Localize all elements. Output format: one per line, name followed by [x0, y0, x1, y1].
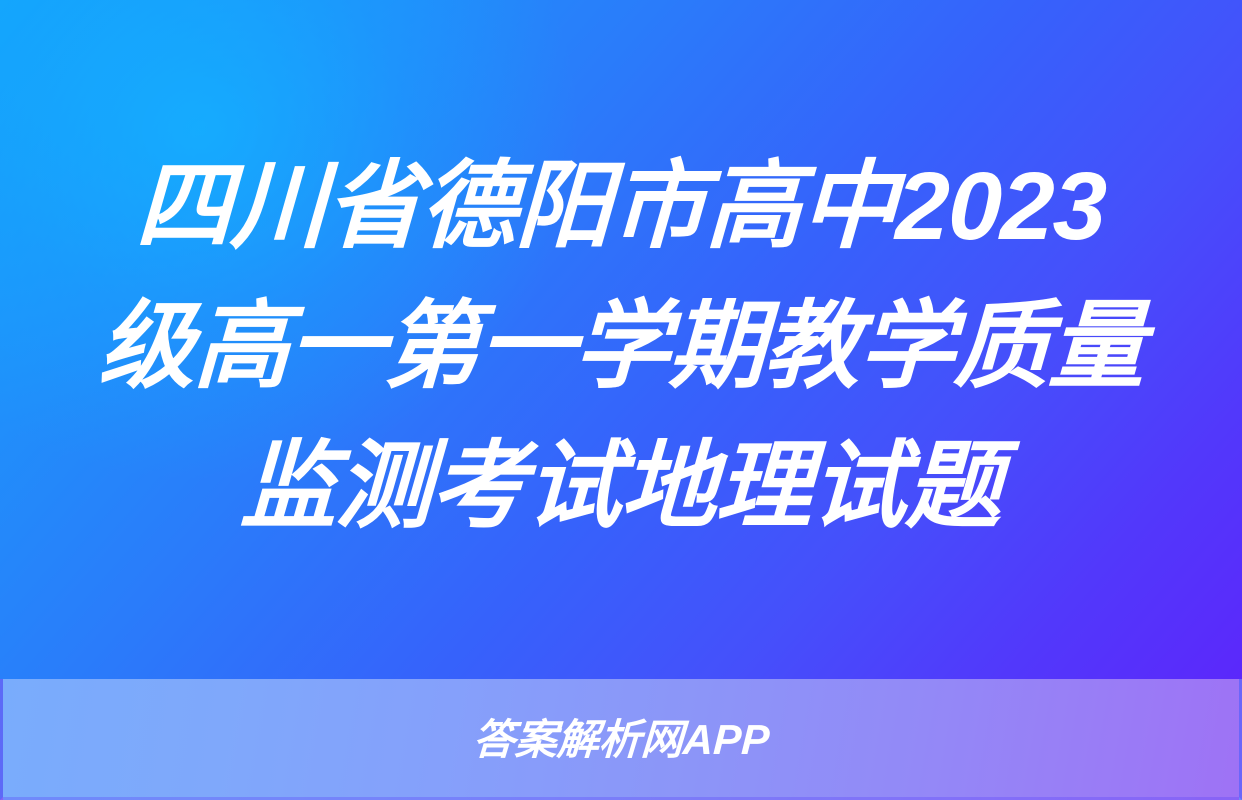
- title-line-1: 四川省德阳市高中2023: [134, 137, 1108, 277]
- title-line-2: 级高一第一学期教学质量: [96, 277, 1146, 417]
- title-line-3: 监测考试地理试题: [239, 417, 1004, 557]
- exam-title-block: 四川省德阳市高中2023 级高一第一学期教学质量 监测考试地理试题: [0, 0, 1242, 679]
- watermark-band: 答案解析网APP: [0, 679, 1242, 800]
- title-card: 四川省德阳市高中2023 级高一第一学期教学质量 监测考试地理试题 答案解析网A…: [0, 0, 1242, 800]
- app-watermark-label: 答案解析网APP: [472, 716, 771, 764]
